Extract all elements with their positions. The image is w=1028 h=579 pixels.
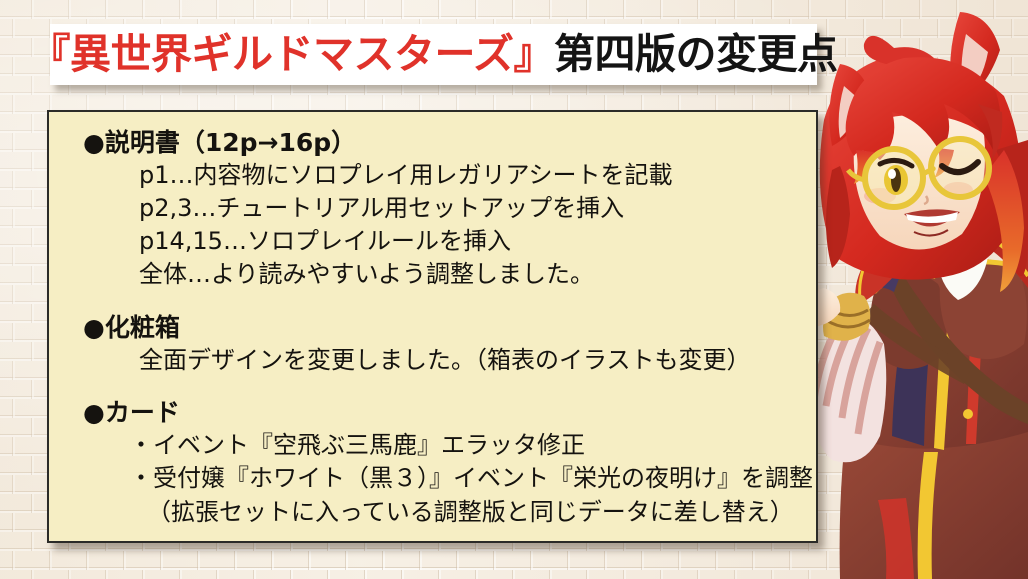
manual-line-3: p14,15…ソロプレイルールを挿入	[139, 225, 798, 258]
title-quoted-part: 『異世界ギルドマスターズ』	[30, 30, 554, 78]
manual-line-2: p2,3…チュートリアル用セットアップを挿入	[139, 192, 798, 225]
box-line-1: 全面デザインを変更しました。（箱表のイラストも変更）	[139, 344, 798, 377]
section-gap-1	[67, 295, 798, 311]
section-manual-lines: p1…内容物にソロプレイ用レガリアシートを記載 p2,3…チュートリアル用セット…	[67, 159, 798, 291]
slide-canvas: 『異世界ギルドマスターズ』第四版の変更点 ●説明書（12p→16p） p1…内容…	[0, 0, 1028, 579]
section-box-lines: 全面デザインを変更しました。（箱表のイラストも変更）	[67, 344, 798, 377]
card-line-3: （拡張セットに入っている調整版と同じデータに差し替え）	[129, 496, 798, 529]
section-cards-heading: ●カード	[67, 396, 798, 429]
section-cards: ●カード ・イベント『空飛ぶ三馬鹿』エラッタ修正 ・受付嬢『ホワイト（黒３）』イ…	[67, 396, 798, 528]
section-manual-heading: ●説明書（12p→16p）	[67, 126, 798, 159]
content-panel: ●説明書（12p→16p） p1…内容物にソロプレイ用レガリアシートを記載 p2…	[47, 110, 818, 543]
page-title: 『異世界ギルドマスターズ』第四版の変更点	[30, 34, 838, 75]
section-manual: ●説明書（12p→16p） p1…内容物にソロプレイ用レガリアシートを記載 p2…	[67, 126, 798, 291]
card-line-1: ・イベント『空飛ぶ三馬鹿』エラッタ修正	[129, 429, 798, 462]
manual-line-4: 全体…より読みやすいよう調整しました。	[139, 258, 798, 291]
section-cards-lines: ・イベント『空飛ぶ三馬鹿』エラッタ修正 ・受付嬢『ホワイト（黒３）』イベント『栄…	[67, 429, 798, 528]
title-banner: 『異世界ギルドマスターズ』第四版の変更点	[50, 24, 817, 85]
section-box: ●化粧箱 全面デザインを変更しました。（箱表のイラストも変更）	[67, 311, 798, 377]
title-plain-part: 第四版の変更点	[554, 30, 838, 78]
section-box-heading: ●化粧箱	[67, 311, 798, 344]
section-gap-2	[67, 380, 798, 396]
card-line-2: ・受付嬢『ホワイト（黒３）』イベント『栄光の夜明け』を調整	[129, 462, 798, 495]
manual-line-1: p1…内容物にソロプレイ用レガリアシートを記載	[139, 159, 798, 192]
